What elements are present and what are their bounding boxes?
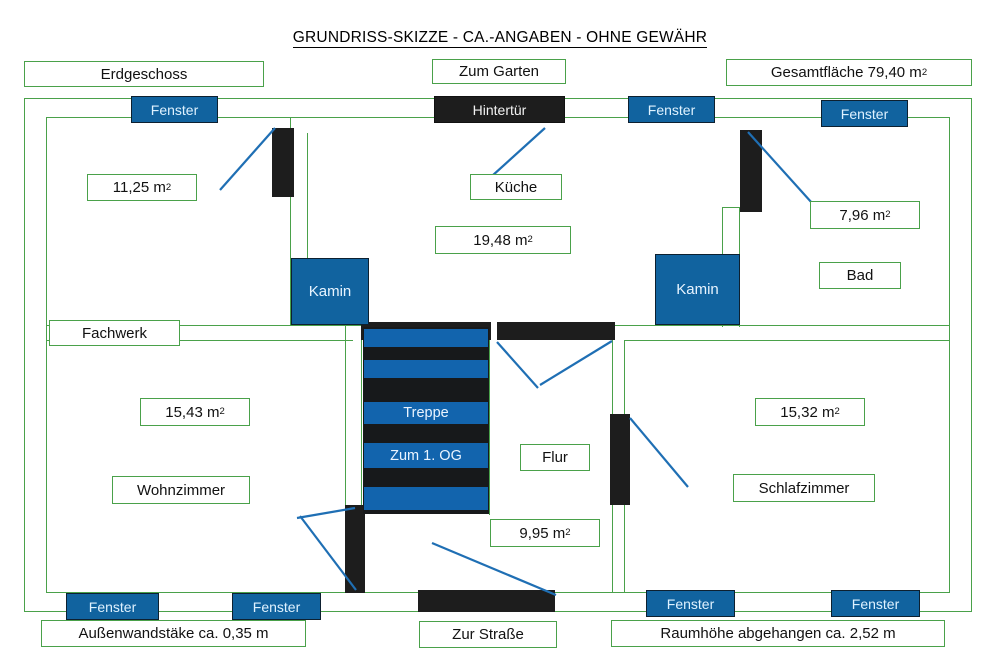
front-door-opening	[418, 590, 555, 612]
staircase-direction-text: Zum 1. OG	[390, 448, 462, 464]
label-schlafzimmer-text: Schlafzimmer	[759, 480, 850, 497]
area-label-7-96: 7,96 m2	[810, 201, 920, 229]
label-flur: Flur	[520, 444, 590, 471]
label-raumhoehe-text: Raumhöhe abgehangen ca. 2,52 m	[660, 625, 895, 642]
label-gesamtflaeche: Gesamtfläche 79,40 m2	[726, 59, 972, 86]
page-title: GRUNDRISS-SKIZZE - CA.-ANGABEN - OHNE GE…	[0, 29, 1000, 47]
area-label-19-48: 19,48 m2	[435, 226, 571, 254]
window-bottom-4-label: Fenster	[852, 596, 899, 612]
staircase-label-text: Treppe	[403, 405, 448, 421]
area-label-15-43: 15,43 m2	[140, 398, 250, 426]
stairwell-wall-right	[489, 325, 490, 515]
window-top-1-label: Fenster	[151, 102, 198, 118]
window-bottom-1[interactable]: Fenster	[66, 593, 159, 620]
area-label-19-48-text: 19,48 m	[473, 232, 527, 249]
label-wohnzimmer: Wohnzimmer	[112, 476, 250, 504]
area-label-9-95: 9,95 m2	[490, 519, 600, 547]
back-door-badge[interactable]: Hintertür	[434, 96, 565, 123]
page-title-text: GRUNDRISS-SKIZZE - CA.-ANGABEN - OHNE GE…	[293, 29, 707, 48]
label-fachwerk-text: Fachwerk	[82, 325, 147, 342]
area-label-11-25: 11,25 m2	[87, 174, 197, 201]
floorplan-canvas: GRUNDRISS-SKIZZE - CA.-ANGABEN - OHNE GE…	[0, 0, 1000, 671]
door-jamb-wohnzimmer	[345, 505, 365, 593]
door-lintel-flur	[497, 322, 615, 340]
staircase-label: Treppe	[364, 402, 488, 424]
label-zum-garten: Zum Garten	[432, 59, 566, 84]
label-aussenwandstaerke: Außenwandstäke ca. 0,35 m	[41, 620, 306, 647]
staircase-direction: Zum 1. OG	[364, 443, 488, 468]
window-bottom-3[interactable]: Fenster	[646, 590, 735, 617]
label-erdgeschoss: Erdgeschoss	[24, 61, 264, 87]
window-bottom-1-label: Fenster	[89, 599, 136, 615]
fireplace-left: Kamin	[291, 258, 369, 325]
label-aussenwandstaerke-text: Außenwandstäke ca. 0,35 m	[78, 625, 268, 642]
label-zur-strasse: Zur Straße	[419, 621, 557, 648]
door-jamb-upper-left	[272, 128, 294, 197]
window-bottom-4[interactable]: Fenster	[831, 590, 920, 617]
label-kueche: Küche	[470, 174, 562, 200]
area-label-9-95-text: 9,95 m	[519, 525, 565, 542]
interior-wall-upper-right-cap	[722, 207, 740, 208]
window-top-2-label: Fenster	[648, 102, 695, 118]
area-label-15-32-text: 15,32 m	[780, 404, 834, 421]
interior-wall-mid-right-2	[624, 340, 950, 341]
label-gesamtflaeche-text: Gesamtfläche 79,40 m	[771, 64, 922, 81]
fireplace-right: Kamin	[655, 254, 740, 325]
stair-step-5	[364, 487, 488, 510]
area-label-15-32: 15,32 m2	[755, 398, 865, 426]
label-zur-strasse-text: Zur Straße	[452, 626, 524, 643]
stair-step-2	[364, 360, 488, 378]
window-bottom-3-label: Fenster	[667, 596, 714, 612]
door-jamb-upper-right	[740, 130, 762, 212]
fireplace-right-label: Kamin	[676, 281, 719, 298]
window-top-3[interactable]: Fenster	[821, 100, 908, 127]
interior-wall-mid-right	[612, 325, 950, 326]
label-raumhoehe: Raumhöhe abgehangen ca. 2,52 m	[611, 620, 945, 647]
stair-step-1	[364, 329, 488, 347]
window-top-1[interactable]: Fenster	[131, 96, 218, 123]
window-top-3-label: Fenster	[841, 106, 888, 122]
back-door-label: Hintertür	[473, 102, 527, 118]
label-fachwerk: Fachwerk	[49, 320, 180, 346]
label-bad: Bad	[819, 262, 901, 289]
door-jamb-flur	[610, 414, 630, 505]
label-wohnzimmer-text: Wohnzimmer	[137, 482, 225, 499]
label-zum-garten-text: Zum Garten	[459, 63, 539, 80]
label-flur-text: Flur	[542, 449, 568, 466]
area-label-11-25-text: 11,25 m	[113, 179, 166, 196]
fireplace-left-label: Kamin	[309, 283, 352, 300]
area-label-7-96-text: 7,96 m	[839, 207, 885, 224]
area-label-15-43-text: 15,43 m	[165, 404, 219, 421]
label-bad-text: Bad	[847, 267, 874, 284]
window-bottom-2[interactable]: Fenster	[232, 593, 321, 620]
window-bottom-2-label: Fenster	[253, 599, 300, 615]
label-kueche-text: Küche	[495, 179, 538, 196]
window-top-2[interactable]: Fenster	[628, 96, 715, 123]
label-schlafzimmer: Schlafzimmer	[733, 474, 875, 502]
label-erdgeschoss-text: Erdgeschoss	[101, 66, 188, 83]
